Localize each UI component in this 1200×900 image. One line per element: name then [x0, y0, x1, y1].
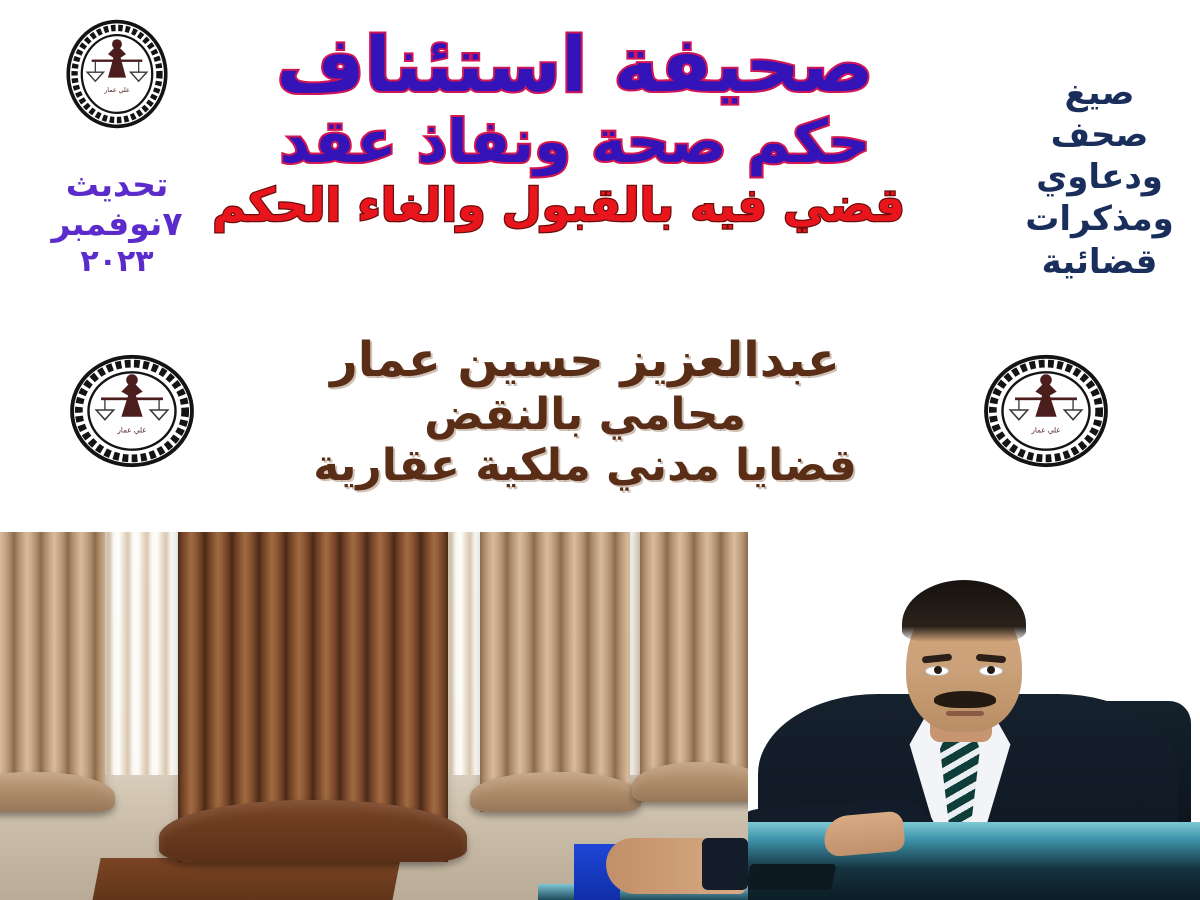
title-line-2: حكم صحة ونفاذ عقد — [245, 112, 905, 172]
lawyer-portrait-photo — [748, 532, 1200, 900]
category-label-column: صيغ صحف ودعاوي ومذكرات قضائية — [1017, 72, 1182, 283]
pupil-left — [934, 666, 942, 674]
poster-title-block: صحيفة استئناف حكم صحة ونفاذ عقد قضي فيه … — [245, 28, 905, 229]
category-label-2: ودعاوي — [1017, 156, 1182, 198]
mouth — [946, 711, 984, 716]
courthouse-columns-photo — [0, 532, 748, 900]
update-date-column: تحديث ٧نوفمبر ٢٠٢٣ — [42, 166, 192, 279]
lawyer-name: عبدالعزيز حسين عمار — [215, 335, 955, 387]
photo-band — [0, 532, 1200, 900]
suit-cuff — [702, 838, 748, 890]
poster-canvas: علي عمار صحيفة استئناف حكم صحة ونفاذ عقد… — [0, 0, 1200, 900]
update-year: ٢٠٢٣ — [42, 244, 192, 279]
category-label-3: ومذكرات — [1017, 198, 1182, 240]
pupil-right — [987, 666, 995, 674]
moustache — [934, 691, 996, 708]
category-label-4: قضائية — [1017, 241, 1182, 283]
title-line-3: قضي فيه بالقبول والغاء الحكم — [245, 181, 905, 229]
column-right — [480, 532, 630, 812]
lawyer-seal-icon: علي عمار — [68, 352, 196, 470]
update-label: تحديث — [42, 166, 192, 205]
column-far-right — [640, 532, 748, 802]
lawyer-seal-icon: علي عمار — [62, 18, 172, 130]
svg-text:علي عمار: علي عمار — [1030, 425, 1060, 434]
svg-text:علي عمار: علي عمار — [116, 425, 146, 434]
lawyer-identity-block: عبدالعزيز حسين عمار محامي بالنقض قضايا م… — [215, 335, 955, 490]
title-line-1: صحيفة استئناف — [245, 28, 905, 102]
smartphone — [748, 864, 836, 890]
lawyer-specialty: قضايا مدني ملكية عقارية — [215, 442, 955, 490]
svg-text:علي عمار: علي عمار — [103, 87, 130, 94]
column-left — [0, 532, 105, 812]
lawyer-seal-icon: علي عمار — [982, 352, 1110, 470]
lawyer-role: محامي بالنقض — [215, 391, 955, 439]
hair — [902, 580, 1026, 642]
update-day-month: ٧نوفمبر — [42, 205, 192, 244]
column-main — [178, 532, 448, 862]
column-plinth — [91, 858, 400, 900]
category-label-0: صيغ — [1017, 72, 1182, 114]
category-label-1: صحف — [1017, 114, 1182, 156]
